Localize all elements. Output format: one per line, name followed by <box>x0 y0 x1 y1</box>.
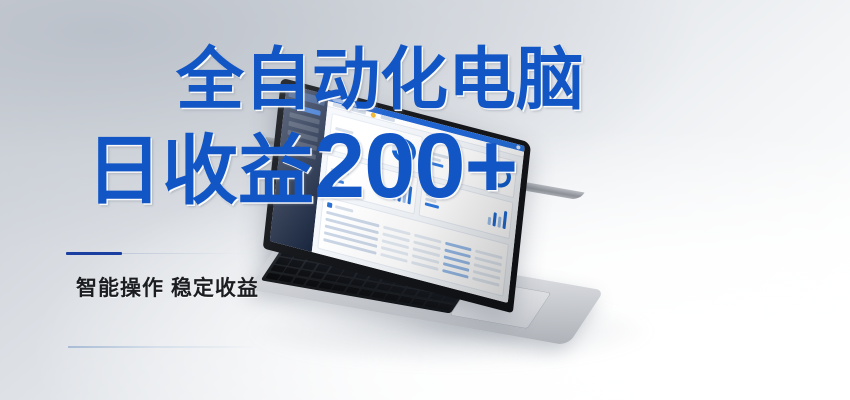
subtitle-text: 智能操作 稳定收益 <box>76 272 259 302</box>
card-labels <box>429 151 448 168</box>
table-icon <box>327 202 333 208</box>
card-labels <box>330 167 349 184</box>
card-delta-placeholder <box>429 161 443 168</box>
card-labels <box>425 192 444 209</box>
card-delta-placeholder <box>334 136 348 143</box>
accent-tail <box>122 253 276 255</box>
laptop-mockup <box>262 108 622 358</box>
baseline-rule <box>68 346 258 348</box>
bar-chart-icon <box>392 180 412 204</box>
accent-rule <box>66 252 276 255</box>
accent-bar <box>66 252 122 255</box>
card-labels <box>334 126 353 143</box>
donut-chart-icon <box>486 161 513 191</box>
promo-banner: 全自动化电脑 日收益200+ 智能操作 稳定收益 <box>0 0 850 400</box>
card-delta-placeholder <box>330 177 344 184</box>
card-delta-placeholder <box>425 202 439 209</box>
table-title-placeholder <box>335 205 353 213</box>
bar-chart-icon <box>487 205 507 229</box>
topbar-status-dot-icon <box>516 145 520 150</box>
donut-chart-icon <box>391 136 418 166</box>
